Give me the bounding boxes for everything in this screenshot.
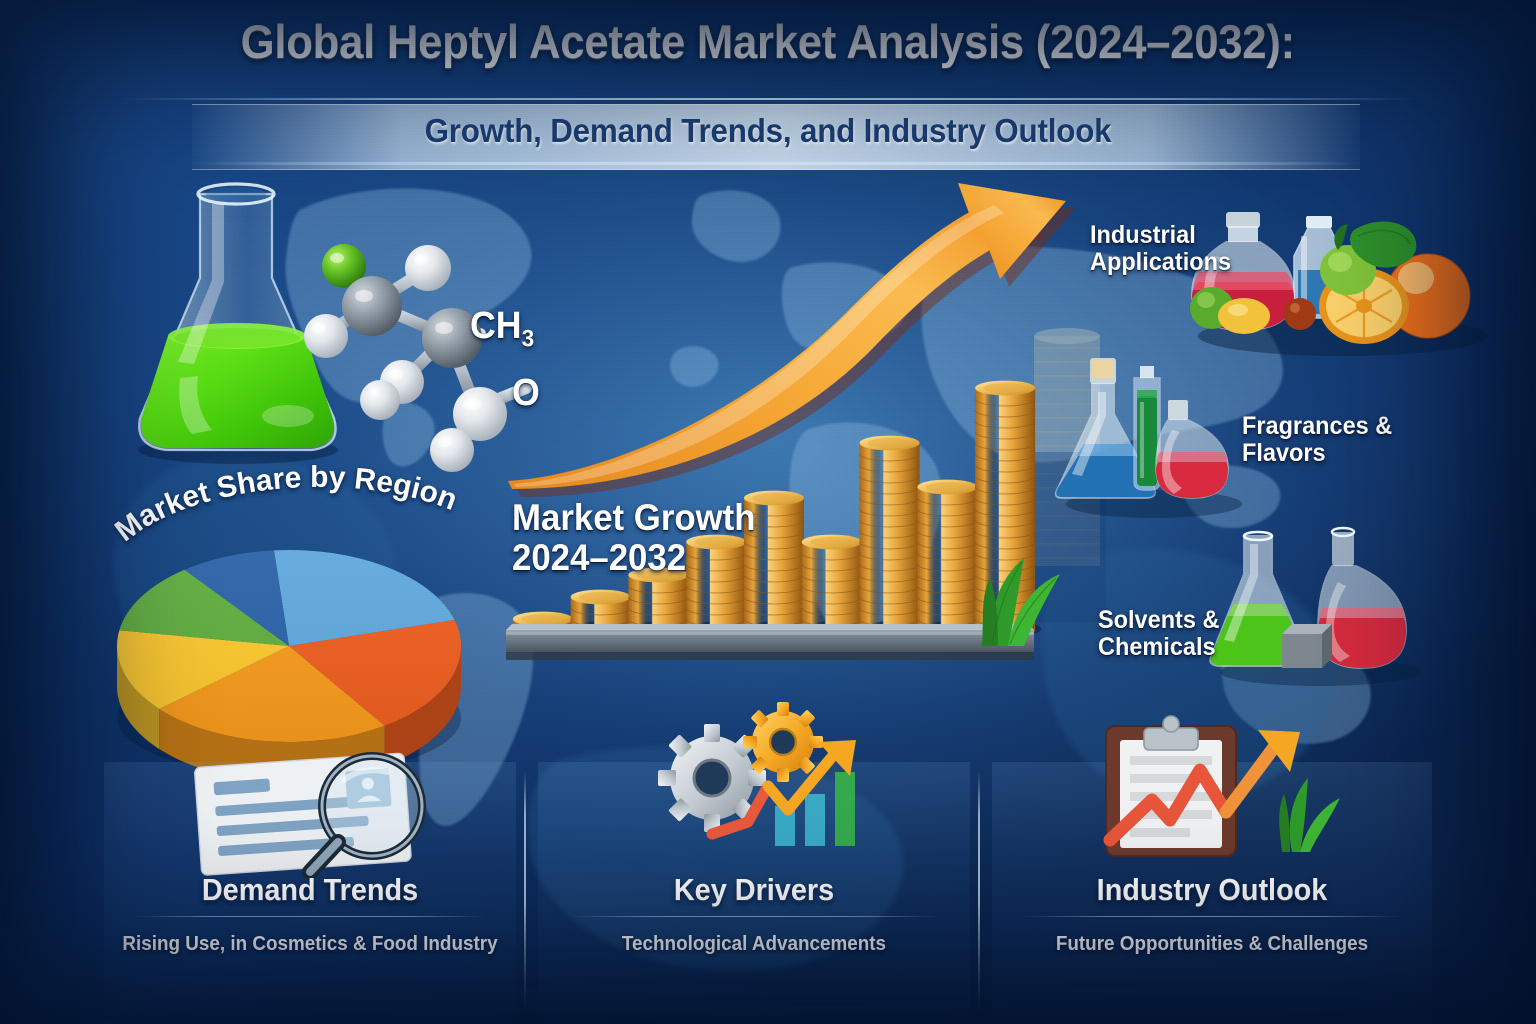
- panel-subtitle-demand-trends: Rising Use, in Cosmetics & Food Industry: [120, 932, 499, 956]
- document-magnifier-icon: [176, 752, 458, 884]
- panel-rule-2: [568, 916, 940, 917]
- coin-stack: [860, 436, 926, 637]
- panel-title-key-drivers: Key Drivers: [553, 872, 955, 908]
- callout-industrial-applications: Industrial Applications: [1090, 222, 1231, 276]
- title-divider: [118, 98, 1418, 100]
- panel-subtitle-industry-outlook: Future Opportunities & Challenges: [1010, 932, 1415, 956]
- panel-divider-1: [524, 772, 526, 1010]
- infographic-canvas: Global Heptyl Acetate Market Analysis (2…: [0, 0, 1536, 1024]
- coin-stack: [917, 480, 983, 637]
- gears-growth-icon: [650, 710, 900, 870]
- panel-subtitle-key-drivers: Technological Advancements: [555, 932, 952, 956]
- panel-title-demand-trends: Demand Trends: [118, 872, 501, 908]
- panel-divider-2: [978, 772, 980, 1010]
- leaves-decoration: [978, 538, 1068, 650]
- panel-rule-3: [1022, 916, 1402, 917]
- coin-platform: [506, 624, 1034, 660]
- page-title-wrapper: Global Heptyl Acetate Market Analysis (2…: [0, 14, 1536, 69]
- market-growth-title: Market Growth 2024–2032: [512, 498, 756, 577]
- fruits-and-bottles-illustration: [1178, 196, 1508, 356]
- panel-rule-1: [134, 916, 486, 917]
- subtitle-divider: [192, 162, 1360, 165]
- solvent-flasks-illustration: [1210, 528, 1430, 688]
- pie-chart-title: Market Share by Region: [108, 468, 488, 558]
- coin-stack: [802, 535, 868, 637]
- callout-fragrances-flavors: Fragrances & Flavors: [1242, 413, 1392, 467]
- svg-text:Market Share by Region: Market Share by Region: [109, 461, 461, 548]
- page-subtitle: Growth, Demand Trends, and Industry Outl…: [38, 112, 1497, 150]
- clipboard-outlook-icon: [1092, 712, 1350, 864]
- fragrance-flasks-illustration: [1062, 352, 1252, 522]
- panel-title-industry-outlook: Industry Outlook: [1007, 872, 1416, 908]
- page-title: Global Heptyl Acetate Market Analysis (2…: [241, 14, 1295, 69]
- callout-solvents-chemicals: Solvents & Chemicals: [1098, 607, 1219, 661]
- pie-title-textpath: Market Share by Region: [109, 461, 461, 548]
